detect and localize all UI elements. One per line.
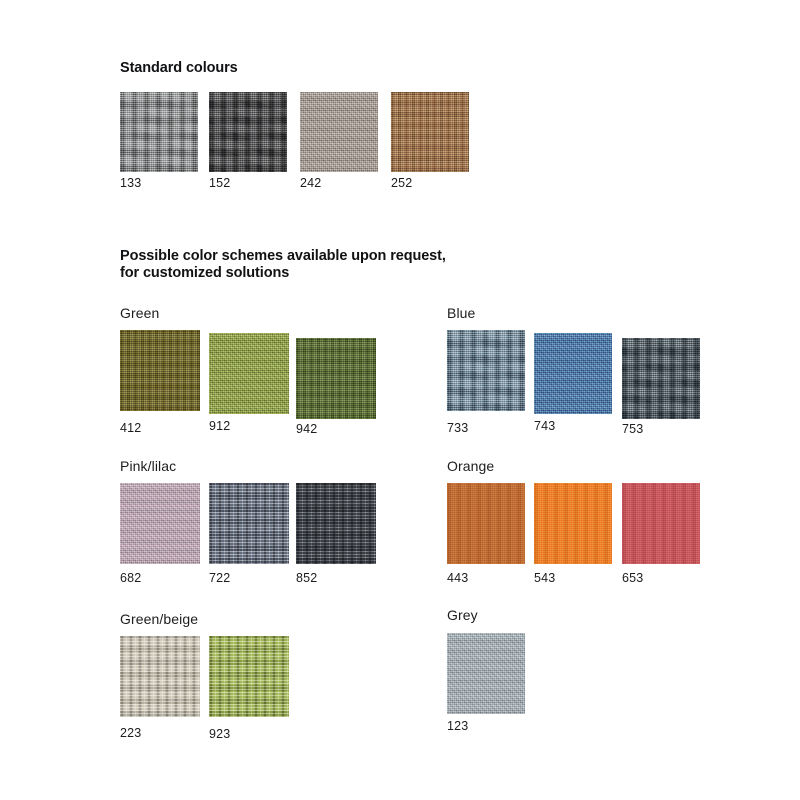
swatch-label-242: 242 [300, 176, 321, 190]
swatch-label-412: 412 [120, 421, 141, 435]
swatch-label-722: 722 [209, 571, 230, 585]
standard-colours-heading: Standard colours [120, 60, 238, 77]
swatch-152[interactable] [209, 92, 287, 172]
swatch-653[interactable] [622, 483, 700, 564]
group-label-green: Green [120, 305, 159, 321]
group-label-blue: Blue [447, 305, 475, 321]
swatch-852[interactable] [296, 483, 376, 564]
swatch-label-682: 682 [120, 571, 141, 585]
swatch-label-733: 733 [447, 421, 468, 435]
swatch-942[interactable] [296, 338, 376, 419]
swatch-label-912: 912 [209, 419, 230, 433]
swatch-label-942: 942 [296, 422, 317, 436]
swatch-923[interactable] [209, 636, 289, 717]
swatch-label-223: 223 [120, 726, 141, 740]
swatch-label-152: 152 [209, 176, 230, 190]
swatch-label-743: 743 [534, 419, 555, 433]
swatch-753[interactable] [622, 338, 700, 419]
swatch-label-123: 123 [447, 719, 468, 733]
swatch-412[interactable] [120, 330, 200, 411]
group-label-green-beige: Green/beige [120, 611, 198, 627]
swatch-743[interactable] [534, 333, 612, 414]
swatch-543[interactable] [534, 483, 612, 564]
swatch-label-923: 923 [209, 727, 230, 741]
swatch-722[interactable] [209, 483, 289, 564]
swatch-label-133: 133 [120, 176, 141, 190]
swatch-252[interactable] [391, 92, 469, 172]
swatch-242[interactable] [300, 92, 378, 172]
color-chart-page: Standard colours 133 152 242 252 Possibl… [0, 0, 800, 800]
schemes-heading-line1: Possible color schemes available upon re… [120, 248, 446, 265]
group-label-pink-lilac: Pink/lilac [120, 458, 176, 474]
swatch-133[interactable] [120, 92, 198, 172]
group-label-grey: Grey [447, 607, 478, 623]
schemes-heading-line2: for customized solutions [120, 265, 289, 282]
swatch-label-443: 443 [447, 571, 468, 585]
swatch-733[interactable] [447, 330, 525, 411]
group-label-orange: Orange [447, 458, 494, 474]
swatch-label-543: 543 [534, 571, 555, 585]
swatch-912[interactable] [209, 333, 289, 414]
swatch-label-653: 653 [622, 571, 643, 585]
swatch-443[interactable] [447, 483, 525, 564]
swatch-123[interactable] [447, 633, 525, 714]
swatch-label-753: 753 [622, 422, 643, 436]
swatch-223[interactable] [120, 636, 200, 717]
swatch-682[interactable] [120, 483, 200, 564]
swatch-label-252: 252 [391, 176, 412, 190]
swatch-label-852: 852 [296, 571, 317, 585]
